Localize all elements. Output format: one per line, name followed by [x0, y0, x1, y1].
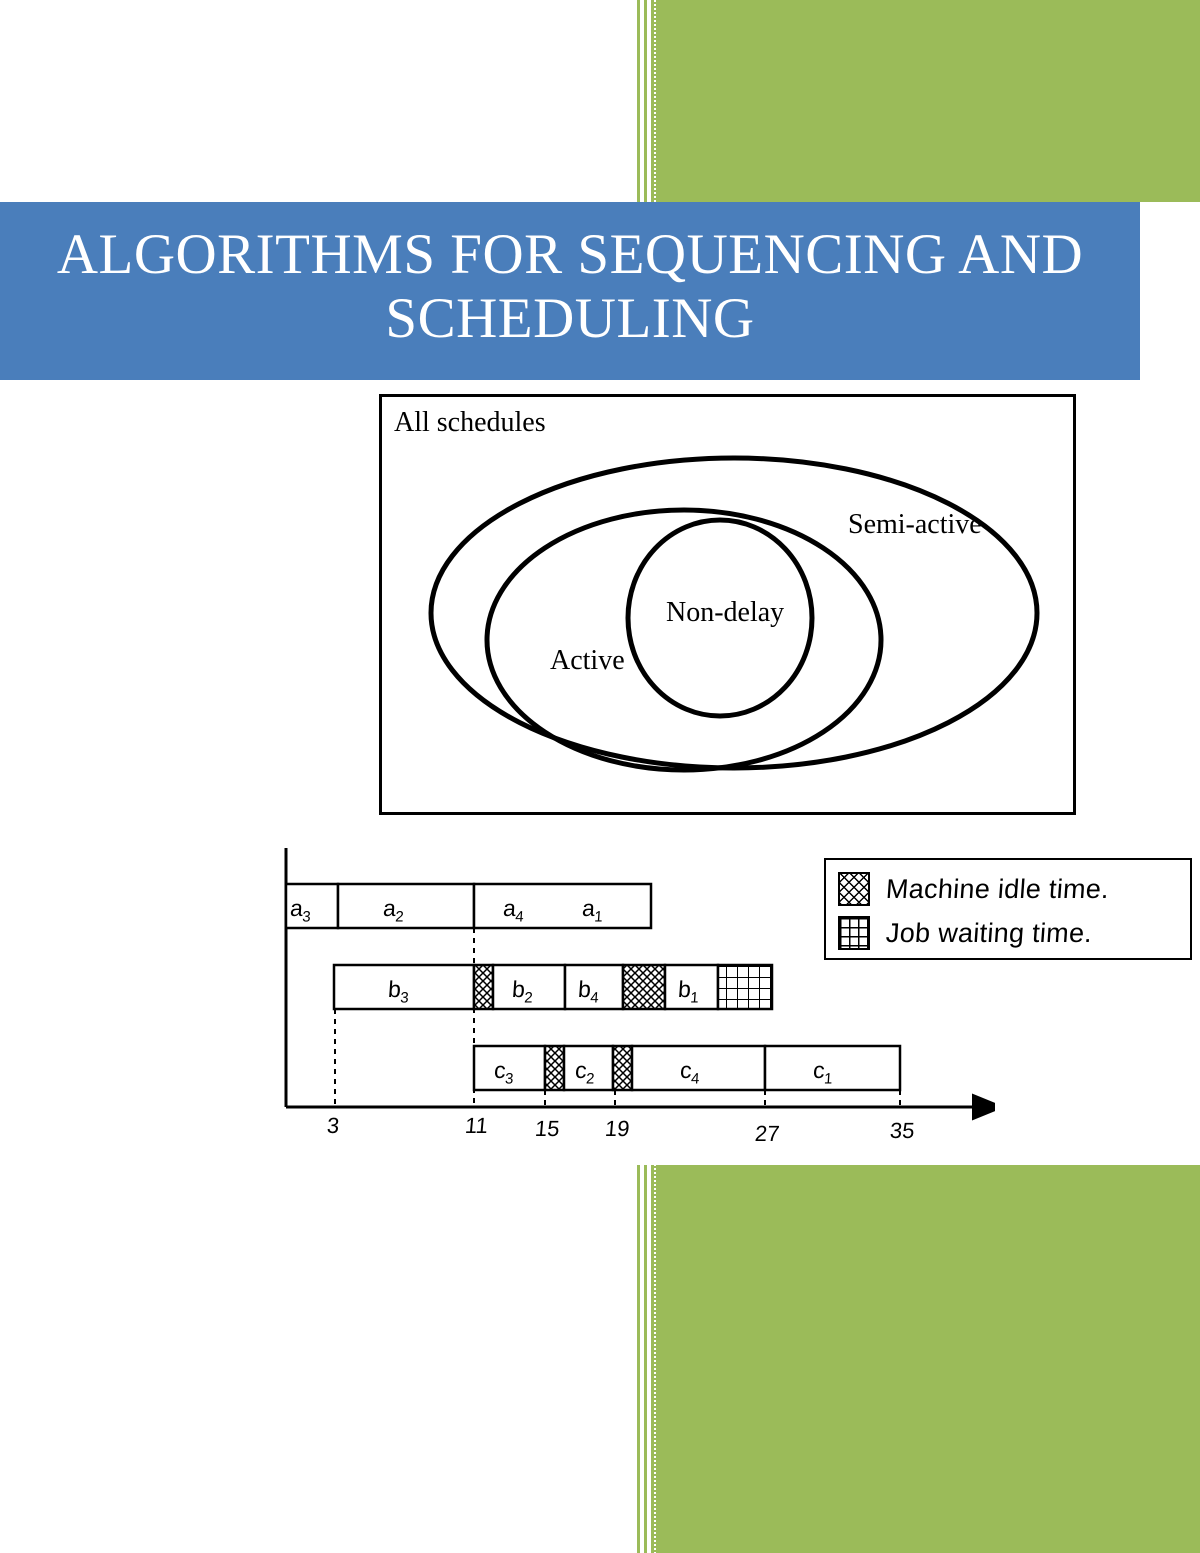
machine-idle-pattern-swatch	[838, 872, 870, 906]
x-tick-label-35: 35	[889, 1118, 916, 1144]
legend-item-machine-idle: Machine idle time.	[838, 867, 1184, 911]
gantt-label-b3: b3	[387, 976, 410, 1007]
x-tick-label-11: 11	[464, 1113, 489, 1139]
legend-item-job-waiting: Job waiting time.	[838, 911, 1184, 955]
gantt-block-idle-c1	[545, 1046, 564, 1090]
gantt-label-a4: a4	[502, 895, 525, 926]
gantt-block-idle-c2	[613, 1046, 632, 1090]
x-tick-label-19: 19	[604, 1116, 631, 1142]
gantt-label-a1: a1	[581, 895, 604, 926]
gantt-label-c3: c3	[493, 1057, 515, 1088]
venn-label-non-delay: Non-delay	[666, 597, 784, 629]
gantt-block-idle-b1	[474, 965, 493, 1009]
gantt-block-a2	[338, 884, 474, 928]
gantt-label-c4: c4	[679, 1057, 701, 1088]
job-waiting-pattern-swatch	[838, 916, 870, 950]
gantt-label-c2: c2	[574, 1057, 596, 1088]
gantt-label-b4: b4	[577, 976, 600, 1007]
gantt-label-a2: a2	[382, 895, 405, 926]
gantt-block-job-waiting	[718, 965, 772, 1009]
active-ellipse	[487, 510, 881, 770]
gantt-label-b2: b2	[511, 976, 534, 1007]
gantt-label-a3: a3	[289, 895, 312, 926]
schedule-class-venn-diagram: All schedules Semi-active Active Non-del…	[379, 394, 1076, 815]
x-tick-label-3: 3	[326, 1113, 341, 1139]
legend-label-job-waiting: Job waiting time.	[885, 918, 1093, 949]
x-tick-label-27: 27	[754, 1121, 781, 1147]
venn-label-semi-active: Semi-active	[848, 509, 982, 541]
document-title-banner: ALGORITHMS FOR SEQUENCING AND SCHEDULING	[0, 202, 1140, 380]
x-tick-label-15: 15	[534, 1116, 561, 1142]
page-title: ALGORITHMS FOR SEQUENCING AND SCHEDULING	[30, 223, 1110, 352]
gantt-legend: Machine idle time. Job waiting time.	[824, 858, 1192, 960]
venn-label-active: Active	[550, 645, 625, 677]
venn-label-all-schedules: All schedules	[394, 407, 546, 439]
gantt-label-b1: b1	[677, 976, 700, 1007]
gantt-label-c1: c1	[812, 1057, 834, 1088]
legend-label-machine-idle: Machine idle time.	[885, 874, 1110, 905]
gantt-block-a4-a1	[474, 884, 651, 928]
gantt-block-idle-b2	[623, 965, 665, 1009]
